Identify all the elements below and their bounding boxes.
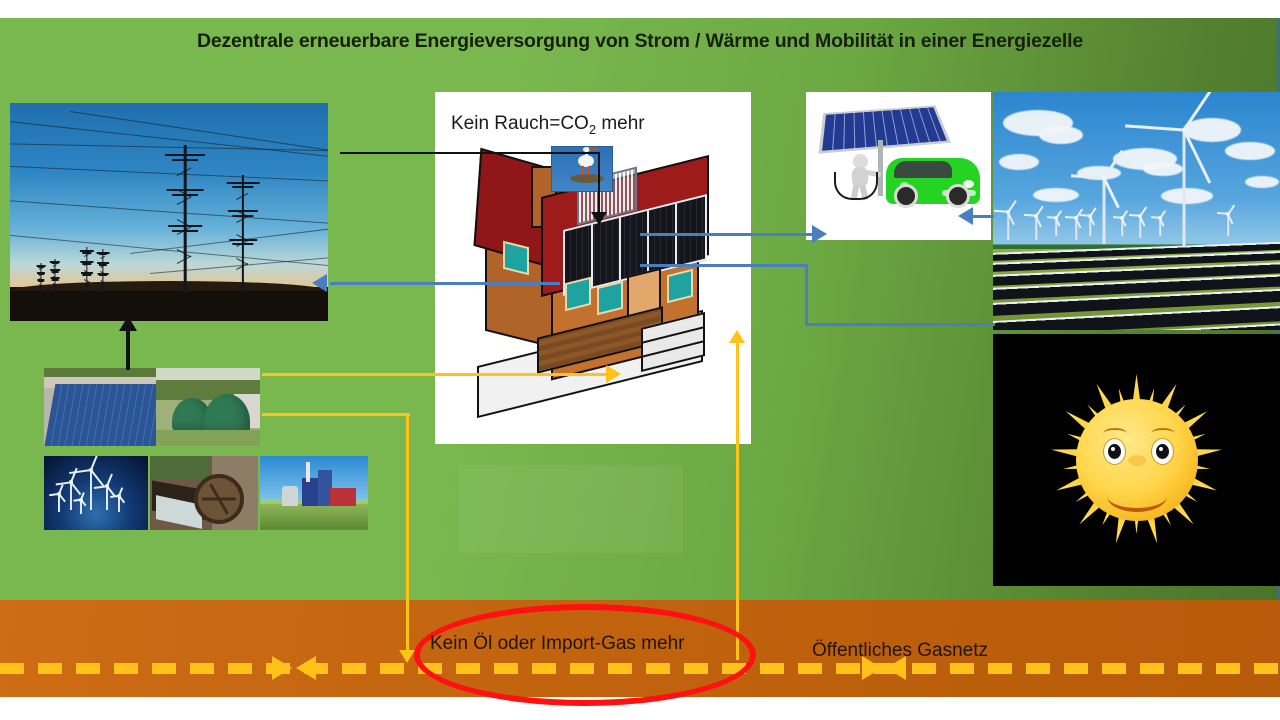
house-illustration — [455, 152, 735, 434]
water-wheel — [194, 474, 244, 524]
house-card: Kein Rauch=CO2 mehr — [435, 92, 751, 444]
house-to-ev-line — [640, 233, 820, 236]
gasnet-to-house-v — [736, 340, 739, 660]
top-margin — [0, 0, 1280, 18]
chimney-stack — [306, 462, 310, 482]
faint-placeholder-box — [458, 465, 683, 553]
stork-annotation-drop — [598, 152, 600, 218]
biogas-to-house-arrow — [606, 365, 621, 383]
carport-post — [878, 140, 883, 196]
no-smoke-text: Kein Rauch=CO — [451, 113, 589, 134]
stork-leg — [588, 166, 590, 175]
cooling-tower — [282, 486, 298, 506]
stork-annotation-arrow — [591, 212, 607, 225]
house-to-ev-arrow — [812, 225, 827, 243]
thumbnail-waterwheel — [150, 456, 258, 530]
biogas-to-gasnet-arrow — [399, 650, 415, 663]
grass — [156, 430, 260, 446]
page-title: Dezentrale erneuerbare Energieversorgung… — [0, 30, 1280, 53]
no-smoke-label: Kein Rauch=CO2 mehr — [451, 113, 645, 137]
foliage — [150, 456, 210, 480]
co2-subscript: 2 — [589, 122, 596, 137]
stork-beak — [589, 148, 598, 150]
charging-cable — [834, 172, 878, 200]
thumbnail-biogas — [156, 368, 260, 446]
house-to-grid-arrow — [312, 274, 327, 292]
biogas-to-gasnet-h — [262, 413, 410, 416]
plant-hall — [330, 488, 356, 506]
highlight-ellipse — [414, 604, 756, 706]
infographic-canvas: Dezentrale erneuerbare Energieversorgung… — [0, 0, 1280, 720]
thumbnail-solar-roof — [44, 368, 156, 446]
meadow — [260, 504, 368, 530]
thumbnail-biomass-plant — [260, 456, 368, 530]
stork-annotation-line — [340, 152, 600, 154]
solar-to-grid-arrow — [119, 316, 137, 331]
no-smoke-tail: mehr — [596, 113, 645, 134]
solar-carport-panel — [818, 105, 951, 153]
biogas-to-house-line — [262, 373, 614, 376]
electric-car — [886, 158, 980, 204]
grid-photo — [10, 103, 328, 321]
sun-graphic — [993, 334, 1280, 586]
public-gas-label: Öffentliches Gasnetz — [812, 640, 988, 662]
stork-leg — [582, 166, 584, 175]
house-to-field-h1 — [640, 264, 808, 267]
no-oil-label: Kein Öl oder Import-Gas mehr — [430, 633, 684, 655]
biogas-to-gasnet-v — [406, 413, 409, 655]
house-to-grid-line — [330, 282, 560, 285]
wheel — [946, 184, 970, 208]
entrance-steps — [641, 320, 707, 376]
background-trees — [44, 368, 156, 377]
eye — [1151, 438, 1174, 465]
gas-flow-arrow-right — [272, 656, 292, 680]
gas-flow-arrow-left — [296, 656, 316, 680]
windpark-pv-photo — [993, 92, 1280, 330]
gasnet-to-house-arrow — [729, 330, 745, 343]
windpv-to-ev-arrow — [958, 207, 973, 225]
smile — [1107, 480, 1167, 512]
house-to-field-h2 — [805, 323, 995, 326]
windshield — [894, 161, 952, 178]
pv-array — [45, 384, 156, 446]
house-to-field-v — [805, 264, 808, 326]
thumbnail-wind — [44, 456, 148, 530]
nose — [1128, 455, 1146, 466]
wheel — [894, 184, 918, 208]
eye — [1103, 438, 1126, 465]
